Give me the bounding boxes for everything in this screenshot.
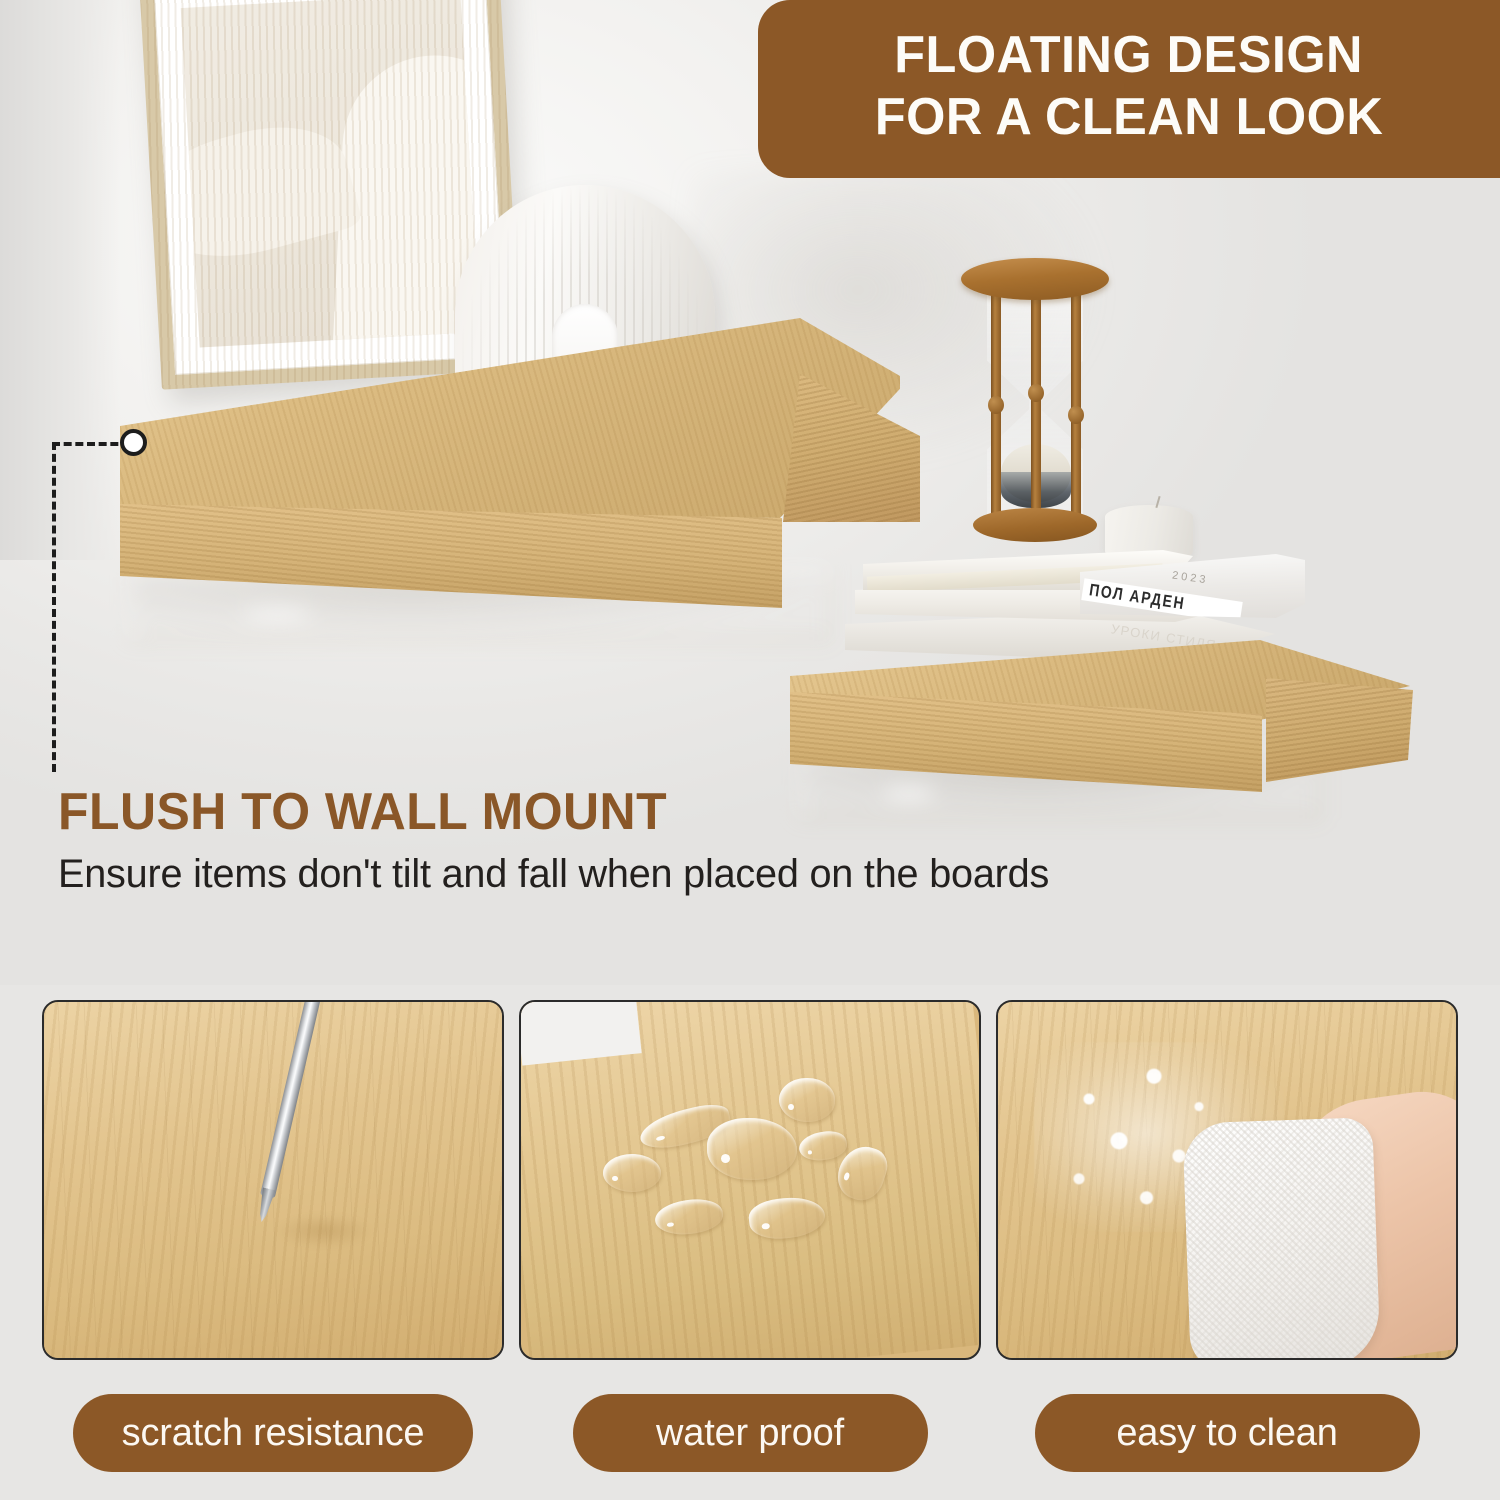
hourglass-post	[1071, 288, 1081, 520]
flush-mount-subtitle: Ensure items don't tilt and fall when pl…	[58, 852, 1049, 897]
upper-shelf-top-face	[120, 318, 900, 518]
hand	[1225, 1074, 1458, 1360]
water-droplet	[707, 1118, 797, 1180]
cleaning-cloth	[1182, 1117, 1381, 1360]
callout-vertical-dashed-line	[52, 442, 56, 772]
callout-point-marker-icon	[120, 429, 147, 456]
lower-floating-shelf	[790, 640, 1410, 790]
scratch-mark	[276, 1214, 372, 1248]
feature-label-water-proof: water proof	[573, 1394, 928, 1472]
hand-wiping-powder-photo	[996, 1000, 1458, 1360]
candle-wick	[1155, 496, 1160, 508]
hourglass-top-cap	[961, 258, 1109, 300]
callout-horizontal-dashed-line	[52, 442, 130, 446]
water-droplets-on-wood-photo	[519, 1000, 981, 1360]
feature-label-easy-to-clean: easy to clean	[1035, 1394, 1420, 1472]
feature-card-easy-to-clean: easy to clean	[996, 1000, 1458, 1472]
feature-card-row: scratch resistance water proof	[0, 1000, 1500, 1500]
product-hero-scene: УРОКИ СТИЛЯ ДИЗАЙНА 2023 ПОЛ АРДЕН FLOAT…	[0, 0, 1500, 985]
hourglass-post-bead	[1068, 406, 1084, 424]
feature-card-scratch-resistance: scratch resistance	[42, 1000, 504, 1472]
water-droplet	[779, 1078, 835, 1122]
hourglass-post	[1031, 288, 1041, 520]
hourglass	[955, 258, 1115, 548]
banner-line-2: FOR A CLEAN LOOK	[875, 86, 1383, 148]
flush-mount-title: FLUSH TO WALL MOUNT	[58, 782, 667, 842]
upper-floating-shelf	[120, 318, 900, 608]
hourglass-post-bead	[988, 396, 1004, 414]
hourglass-post-bead	[1028, 384, 1044, 402]
art-shape-b	[181, 108, 363, 279]
lower-shelf-right-face	[1258, 678, 1413, 786]
water-droplet	[603, 1154, 661, 1192]
book-year-label: 2023	[1171, 570, 1209, 587]
art-print	[181, 0, 480, 348]
screwdriver-tip	[255, 1187, 275, 1223]
header-banner: FLOATING DESIGN FOR A CLEAN LOOK	[758, 0, 1500, 178]
flush-mount-callout	[52, 432, 162, 772]
feature-card-water-proof: water proof	[519, 1000, 981, 1472]
feature-label-scratch-resistance: scratch resistance	[73, 1394, 473, 1472]
screwdriver-on-wood-photo	[42, 1000, 504, 1360]
banner-line-1: FLOATING DESIGN	[895, 24, 1364, 86]
